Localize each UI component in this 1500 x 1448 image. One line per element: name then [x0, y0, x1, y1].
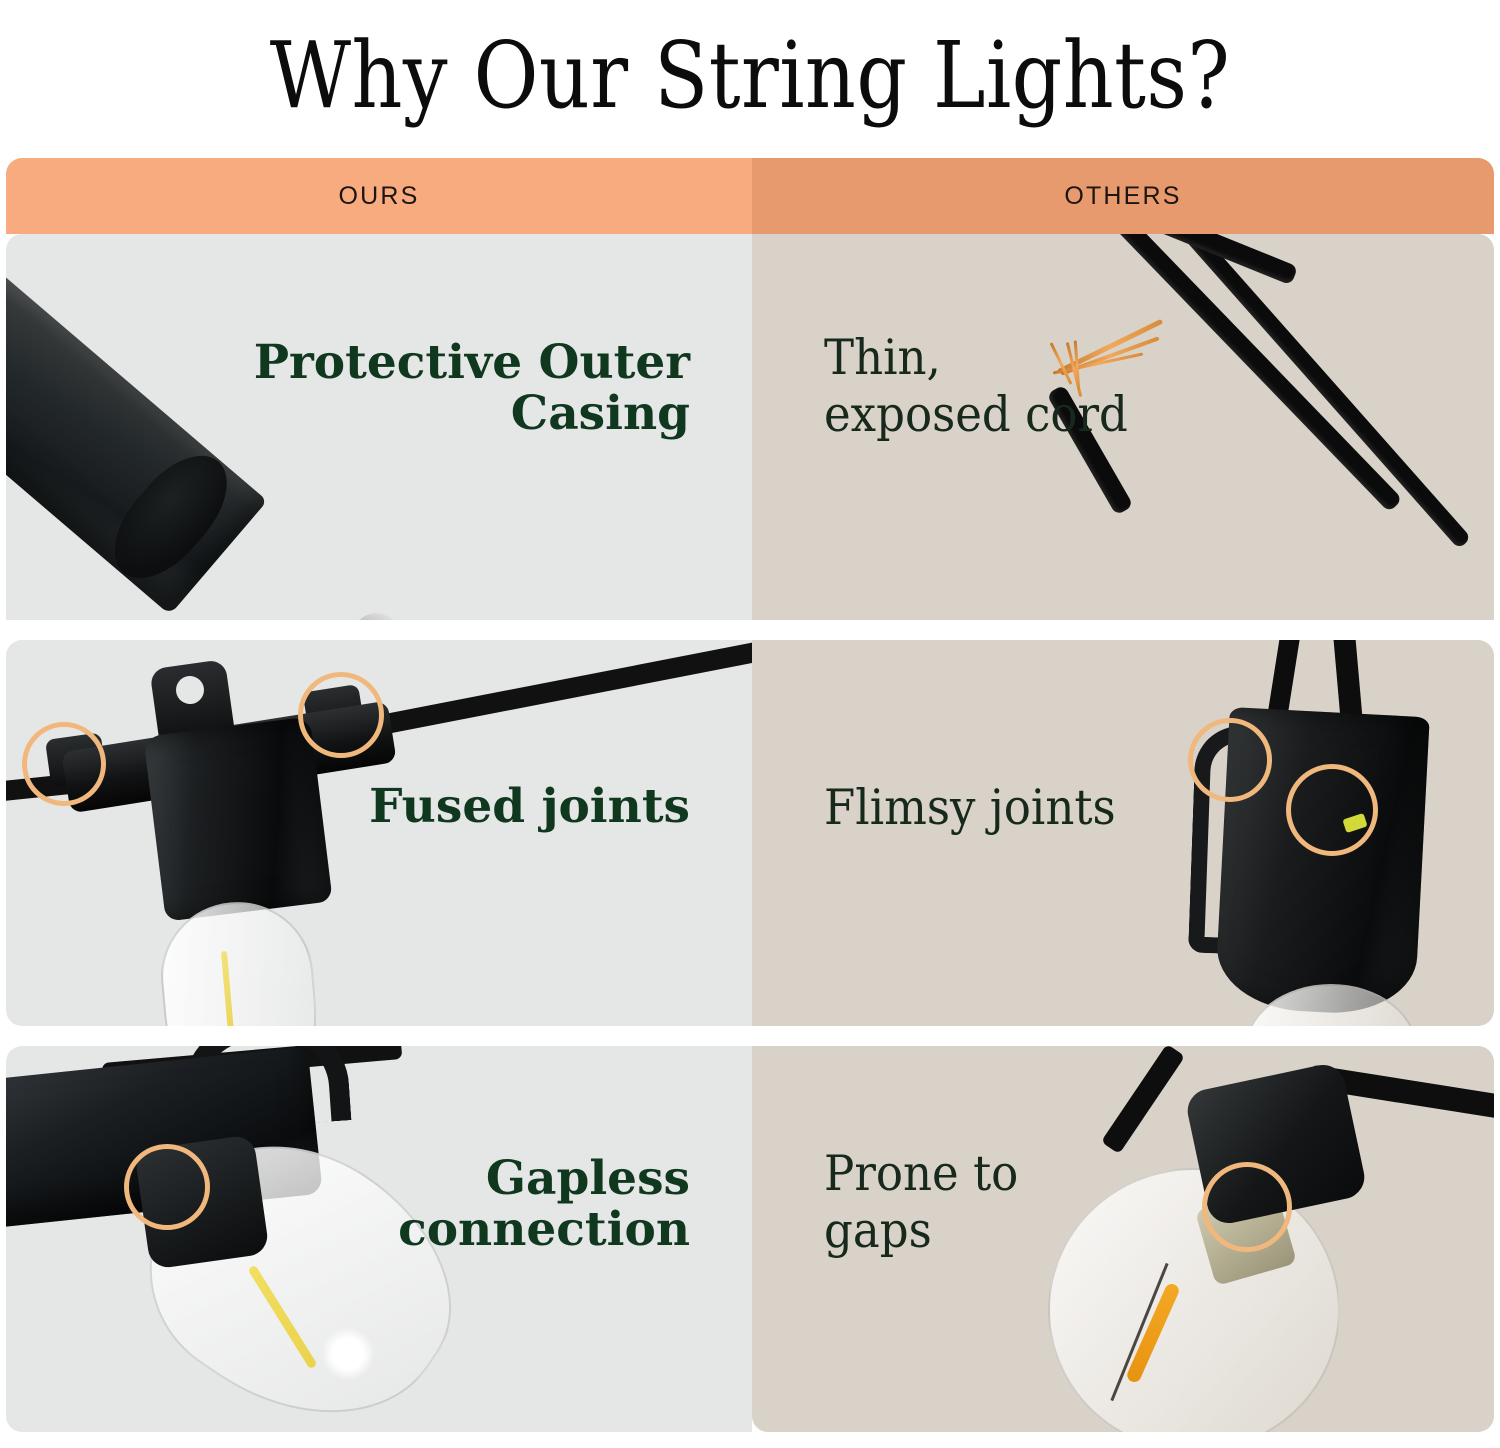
cable-cut-face	[95, 437, 246, 596]
caption-line-1: Flimsy joints	[824, 780, 1238, 837]
caption-line-2: Casing	[210, 389, 690, 440]
cell-others-gaps: Prone to gaps	[752, 1046, 1494, 1432]
caption-line-2: gaps	[824, 1203, 1238, 1260]
bulb-glow	[322, 1328, 374, 1380]
highlight-ring-right-icon	[298, 672, 384, 758]
caption-line-2: connection	[210, 1205, 690, 1256]
cell-others-flimsy-joints: Flimsy joints	[752, 640, 1494, 1026]
table-row: Protective Outer Casing	[6, 234, 1494, 620]
caption-others-row2: Flimsy joints	[824, 780, 1238, 837]
caption-others-row3: Prone to gaps	[824, 1146, 1238, 1260]
table-row: Fused joints Flimsy joints	[6, 640, 1494, 1026]
cell-ours-fused-joints: Fused joints	[6, 640, 752, 1026]
caption-ours-row3: Gapless connection	[210, 1154, 690, 1256]
highlight-ring-connection-icon	[124, 1144, 210, 1230]
table-row: Gapless connection Prone to gap	[6, 1046, 1494, 1432]
table-header-band: OURS OTHERS	[6, 158, 1494, 234]
caption-line-1: Fused joints	[210, 782, 690, 833]
caption-ours-row2: Fused joints	[210, 782, 690, 833]
column-header-ours: OURS	[6, 158, 752, 234]
column-header-others: OTHERS	[752, 158, 1494, 234]
caption-line-1: Prone to	[824, 1146, 1238, 1203]
caption-line-1: Gapless	[210, 1154, 690, 1205]
table-rows: Protective Outer Casing	[6, 234, 1494, 1444]
cord-right	[348, 640, 752, 741]
caption-line-1: Thin,	[824, 330, 1238, 387]
page-title: Why Our String Lights?	[105, 0, 1395, 150]
bulb-filament	[221, 951, 237, 1026]
caption-line-2: exposed cord	[824, 387, 1238, 444]
highlight-ring-left-icon	[22, 722, 106, 806]
cell-ours-gapless: Gapless connection	[6, 1046, 752, 1432]
comparison-table: OURS OTHERS Protective Outer Casing	[6, 158, 1494, 1444]
caption-line-1: Protective Outer	[210, 338, 690, 389]
cord-left	[1101, 1046, 1185, 1154]
cell-others-cord: Thin, exposed cord	[752, 234, 1494, 620]
inner-wire-gray	[336, 603, 496, 620]
cell-ours-casing: Protective Outer Casing	[6, 234, 752, 620]
highlight-ring-gap-icon	[1286, 764, 1378, 856]
caption-ours-row1: Protective Outer Casing	[210, 338, 690, 440]
caption-others-row1: Thin, exposed cord	[824, 330, 1238, 444]
